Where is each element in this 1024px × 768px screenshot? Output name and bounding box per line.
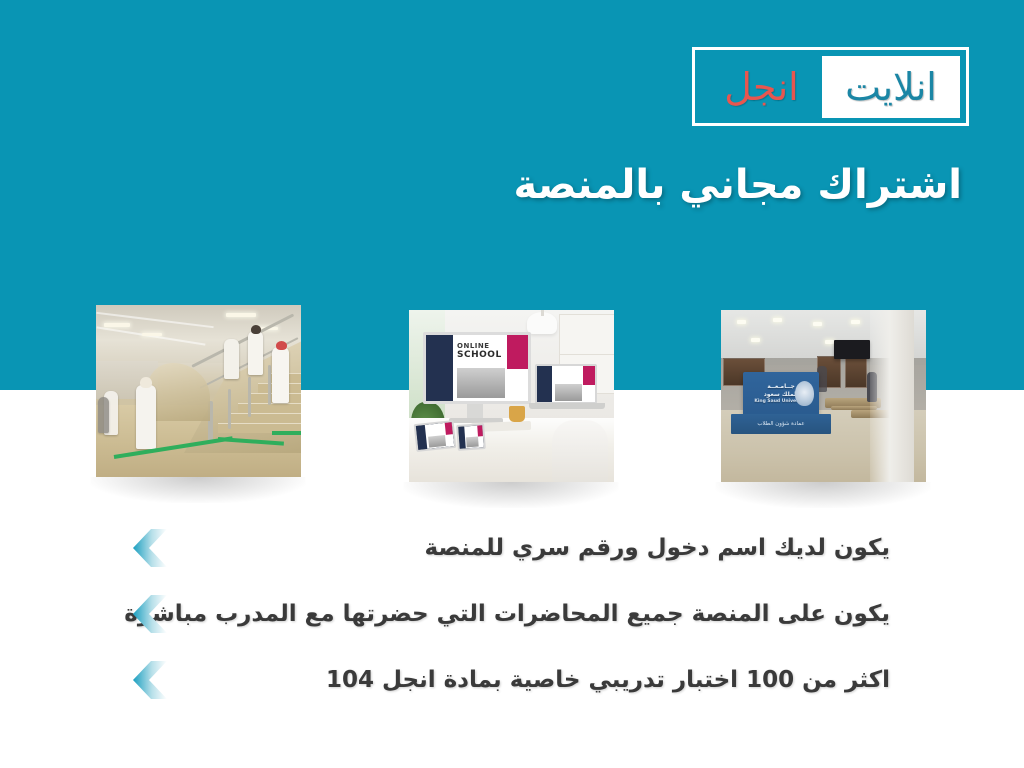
device-monitor: ONLINE SCHOOL: [423, 332, 531, 404]
page-title: اشتراك مجاني بالمنصة: [514, 162, 962, 208]
sign-line-arabic-2: الملك سعود: [764, 391, 799, 398]
screen-title-line1: ONLINE: [457, 342, 490, 350]
university-sign: جــامـعــة الملك سعود King Saud Universi…: [743, 372, 819, 416]
list-item[interactable]: يكون لديك اسم دخول ورقم سري للمنصة: [0, 515, 1024, 581]
university-seal-icon: [795, 381, 814, 406]
bullet-text: اكثر من 100 اختبار تدريبي خاصية بمادة ان…: [326, 667, 890, 693]
screen-title-line2: SCHOOL: [457, 350, 502, 360]
logo-word-red: انجل: [701, 68, 822, 106]
photo-strip: ONLINE SCHOOL: [0, 305, 1024, 485]
photo-online-school-devices: ONLINE SCHOOL: [409, 310, 614, 482]
bullet-text: يكون على المنصة جميع المحاضرات التي حضرت…: [124, 601, 890, 627]
photo-shadow-1: [91, 477, 306, 503]
sign-line-arabic-1: جــامـعــة: [767, 383, 795, 390]
sign-subtitle: عمادة شؤون الطلاب: [731, 414, 831, 434]
bullet-text: يكون لديك اسم دخول ورقم سري للمنصة: [425, 535, 890, 561]
photo-shadow-2: [404, 482, 619, 508]
photo-shadow-3: [716, 482, 931, 508]
chevron-left-icon: [133, 529, 167, 567]
device-tablet: [414, 420, 457, 452]
brand-logo[interactable]: انلايت انجل: [692, 47, 969, 126]
photo-king-saud-university-hall: جــامـعــة الملك سعود King Saud Universi…: [721, 310, 926, 482]
device-laptop: [535, 364, 597, 404]
chevron-left-icon: [133, 661, 167, 699]
device-phone: [456, 423, 486, 451]
logo-word-teal: انلايت: [845, 68, 937, 106]
hall-display-screen: [834, 340, 870, 359]
logo-white-box: انلايت: [822, 56, 960, 118]
slide-root: انلايت انجل اشتراك مجاني بالمنصة: [0, 0, 1024, 768]
list-item[interactable]: اكثر من 100 اختبار تدريبي خاصية بمادة ان…: [0, 647, 1024, 713]
university-sign-secondary: عمادة شؤون الطلاب: [731, 414, 831, 434]
bullet-list: يكون لديك اسم دخول ورقم سري للمنصة يكون …: [0, 515, 1024, 713]
chevron-left-icon: [133, 595, 167, 633]
photo-university-corridor-stairs: [96, 305, 301, 477]
list-item[interactable]: يكون على المنصة جميع المحاضرات التي حضرت…: [0, 581, 1024, 647]
